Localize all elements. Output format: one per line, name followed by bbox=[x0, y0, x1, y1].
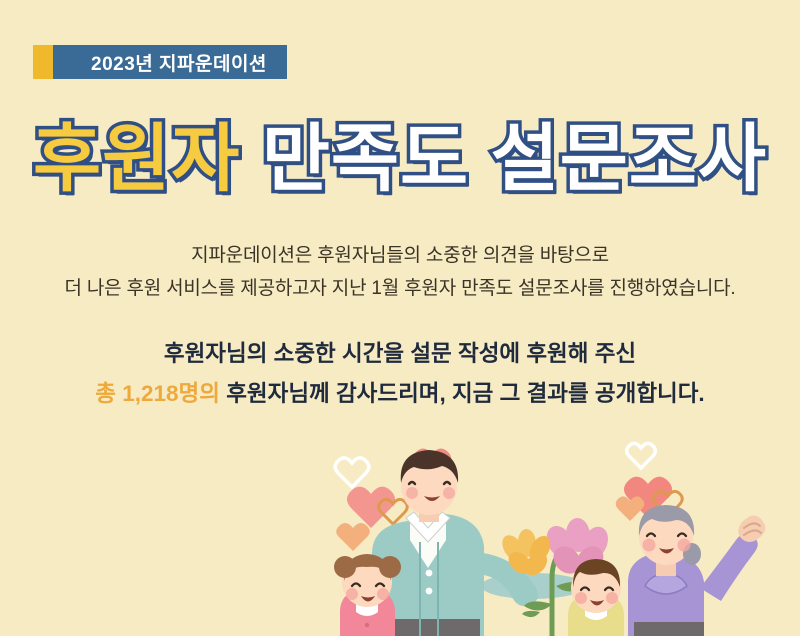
girl-bun-right bbox=[379, 556, 401, 578]
boy-collar bbox=[585, 609, 607, 620]
man-button-1 bbox=[426, 570, 433, 577]
heart-icon-outline-gold bbox=[379, 499, 408, 524]
girl-bun-left bbox=[334, 556, 356, 578]
eyebrow-badge: 2023년 지파운데이션 bbox=[33, 45, 287, 79]
man-head bbox=[401, 457, 457, 515]
man-shirt bbox=[410, 520, 446, 568]
boy-body bbox=[568, 592, 624, 636]
man-body bbox=[372, 514, 484, 636]
grandma-mouth bbox=[659, 548, 674, 554]
man-arm bbox=[476, 552, 538, 606]
heart-icon-outline-white-2 bbox=[627, 443, 656, 468]
grandma-collar bbox=[645, 574, 687, 594]
flower-leaf-low bbox=[522, 611, 540, 617]
girl-hair bbox=[344, 554, 391, 581]
grandma-hair-bun bbox=[683, 543, 701, 565]
grandma-hand bbox=[738, 515, 765, 542]
girl-eye-right bbox=[376, 584, 384, 587]
grandma-eye-right bbox=[678, 534, 686, 537]
man-hair bbox=[401, 450, 458, 483]
man-neck bbox=[419, 508, 439, 522]
brush-stroke bbox=[481, 573, 585, 599]
man-cheek-left bbox=[406, 487, 418, 499]
heart-icon-coral bbox=[413, 448, 452, 482]
grandma-neck bbox=[656, 558, 676, 576]
man-trousers bbox=[378, 619, 480, 636]
grandma-skirt bbox=[634, 622, 704, 636]
boy-cheek-right bbox=[606, 592, 618, 604]
man-eye-right bbox=[444, 482, 450, 484]
grandma-arm bbox=[700, 533, 758, 601]
man-collar bbox=[406, 512, 450, 542]
man-eye-left bbox=[409, 482, 415, 484]
title-rest: 만족도 설문조사 bbox=[262, 117, 767, 200]
girl-button bbox=[365, 623, 369, 627]
man-cheek-right bbox=[443, 487, 455, 499]
intro-line-1: 지파운데이션은 후원자님들의 소중한 의견을 바탕으로 bbox=[0, 240, 800, 273]
flower-leaf-left bbox=[524, 601, 552, 610]
grandma-eye-left bbox=[647, 534, 655, 537]
intro-line-2: 더 나은 후원 서비스를 제공하고자 지난 1월 후원자 만족도 설문조사를 진… bbox=[0, 273, 800, 306]
flower-leaf-right bbox=[556, 582, 583, 592]
girl-eye-left bbox=[352, 584, 360, 587]
heart-icon-outline-gold-2 bbox=[654, 491, 683, 516]
flower-yellow bbox=[498, 528, 555, 579]
poster-root: 2023년 지파운데이션 후원자 만족도 설문조사 지파운데이션은 후원자님들의… bbox=[0, 0, 800, 636]
emphasis-paragraph: 후원자님의 소중한 시간을 설문 작성에 후원해 주신 총 1,218명의 후원… bbox=[0, 334, 800, 414]
badge-accent-bar bbox=[33, 45, 53, 79]
girl-head bbox=[342, 557, 392, 607]
grandma-hand-line-2 bbox=[744, 530, 761, 535]
girl-collar bbox=[356, 604, 378, 616]
heart-icon-peach-2 bbox=[616, 496, 645, 521]
emphasis-line-2: 총 1,218명의 후원자님께 감사드리며, 지금 그 결과를 공개합니다. bbox=[0, 374, 800, 414]
title-highlight: 후원자 bbox=[33, 117, 240, 200]
grandma-body bbox=[628, 552, 704, 636]
page-title: 후원자 만족도 설문조사 bbox=[0, 122, 800, 196]
heart-icon-peach bbox=[336, 523, 370, 551]
family-illustration bbox=[0, 436, 800, 636]
emphasis-line-1: 후원자님의 소중한 시간을 설문 작성에 후원해 주신 bbox=[0, 334, 800, 374]
intro-paragraph: 지파운데이션은 후원자님들의 소중한 의견을 바탕으로 더 나은 후원 서비스를… bbox=[0, 240, 800, 305]
heart-icon-pink bbox=[347, 487, 395, 528]
grandma-hair bbox=[639, 505, 694, 536]
grandma-head bbox=[639, 509, 693, 565]
boy-hair bbox=[573, 559, 620, 587]
girl-mouth bbox=[361, 596, 375, 602]
flower-stem-main bbox=[552, 552, 560, 636]
man-button-2 bbox=[426, 588, 433, 595]
badge-label: 2023년 지파운데이션 bbox=[53, 45, 287, 79]
respondent-count-label: 총 1,218명의 bbox=[95, 381, 220, 406]
girl-cheek-right bbox=[377, 588, 389, 600]
man-mouth bbox=[424, 496, 440, 501]
emphasis-line-2-rest: 후원자님께 감사드리며, 지금 그 결과를 공개합니다. bbox=[220, 381, 705, 406]
grandma-hand-line-1 bbox=[744, 523, 760, 528]
boy-mouth bbox=[590, 600, 604, 606]
boy-eye-left bbox=[581, 588, 589, 591]
grandma-cheek-right bbox=[678, 539, 691, 552]
boy-eye-right bbox=[605, 588, 613, 591]
boy-cheek-left bbox=[575, 592, 587, 604]
heart-icon-outline-white bbox=[335, 458, 369, 487]
flower-pink bbox=[541, 517, 612, 579]
boy-head bbox=[571, 563, 621, 613]
girl-body bbox=[340, 588, 395, 636]
girl-cheek-left bbox=[346, 588, 358, 600]
heart-icon-pink-2 bbox=[624, 477, 672, 518]
grandma-cheek-left bbox=[643, 539, 656, 552]
